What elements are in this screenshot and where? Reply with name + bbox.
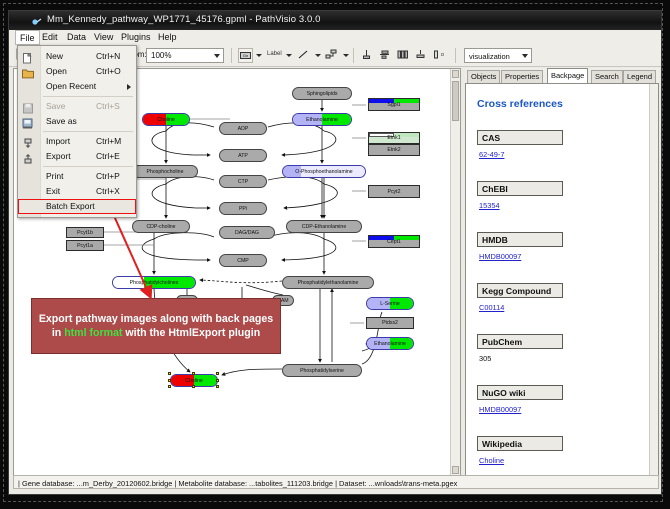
menu-item-open-accel: Ctrl+O xyxy=(96,66,121,76)
menu-item-print-label: Print xyxy=(46,171,63,181)
pathway-node[interactable]: ADP xyxy=(219,122,267,135)
menu-divider-1 xyxy=(43,96,133,97)
pathway-node-label: Phosphatidylethanolamine xyxy=(298,280,359,286)
pathway-node-label: DAG/DAG xyxy=(235,230,259,236)
gene-node-label: Pcyt1b xyxy=(77,230,93,236)
selection-handle[interactable] xyxy=(168,372,171,375)
menu-item-save-accel: Ctrl+S xyxy=(96,101,120,111)
canvas-scroll-thumb[interactable] xyxy=(452,81,459,121)
pathway-node-label: CTP xyxy=(238,179,248,185)
toolbar-separator-5 xyxy=(455,48,456,63)
selection-handle[interactable] xyxy=(168,385,171,388)
scroll-up-button[interactable] xyxy=(452,70,459,78)
menu-item-exit-accel: Ctrl+X xyxy=(96,186,120,196)
title-bar: Mm_Kennedy_pathway_WP1771_45176.gpml - P… xyxy=(9,11,661,31)
save-as-icon xyxy=(22,116,34,127)
menu-edit[interactable]: Edit xyxy=(38,31,62,44)
toolbar-separator-4 xyxy=(353,48,354,63)
menu-bar: File Edit Data View Plugins Help xyxy=(9,30,661,46)
pathway-node[interactable]: O-Phosphoethanolamine xyxy=(282,165,366,178)
menu-item-batch-export[interactable]: Batch Export xyxy=(18,199,136,214)
svg-text:Gn: Gn xyxy=(243,53,248,58)
pathway-node[interactable]: Choline xyxy=(142,113,190,126)
xref-database-label: Kegg Compound xyxy=(477,283,563,298)
screenshot-frame: Mm_Kennedy_pathway_WP1771_45176.gpml - P… xyxy=(0,0,670,509)
window-title: Mm_Kennedy_pathway_WP1771_45176.gpml - P… xyxy=(47,14,321,25)
submenu-arrow-icon xyxy=(127,84,131,90)
pathway-node[interactable]: CMP xyxy=(219,254,267,267)
pathway-node-label: O-Phosphoethanolamine xyxy=(295,169,352,175)
pathway-node-label: Phosphocholine xyxy=(147,169,184,175)
new-file-icon xyxy=(22,51,34,62)
pathway-node[interactable]: CTP xyxy=(219,175,267,188)
gene-node-label: Etnk1 xyxy=(387,135,400,141)
backpage-panel: Cross references CAS62-49-7ChEBI15354HMD… xyxy=(465,83,659,476)
menu-item-batch-export-label: Batch Export xyxy=(46,201,95,211)
gene-node-label: Cept1 xyxy=(387,239,401,245)
line-button[interactable] xyxy=(297,48,312,63)
pathway-node[interactable]: Ethanolamine xyxy=(292,113,352,126)
pathway-node-label: Phosphatidylcholines xyxy=(130,280,179,286)
stack-button[interactable] xyxy=(414,48,429,63)
xref-database-label: PubChem xyxy=(477,334,563,349)
pathway-node[interactable]: CDP-choline xyxy=(132,220,190,233)
status-bar-text: | Gene database: ...m_Derby_20120602.bri… xyxy=(18,479,457,488)
pathway-node[interactable]: Sphingolipids xyxy=(292,87,352,100)
pathway-node[interactable]: CDP-Ethanolamine xyxy=(286,220,362,233)
pathway-node-label: Choline xyxy=(157,117,175,123)
pathway-node-label: ADP xyxy=(238,126,249,132)
selection-handle[interactable] xyxy=(216,372,219,375)
menu-item-open-label: Open xyxy=(46,66,67,76)
gene-node-label: Pcyt2 xyxy=(388,189,401,195)
selection-handle[interactable] xyxy=(192,372,195,375)
align-left-button[interactable] xyxy=(378,48,393,63)
open-folder-icon xyxy=(22,66,34,77)
selection-handle[interactable] xyxy=(216,385,219,388)
pathway-node[interactable]: Phosphocholine xyxy=(132,165,198,178)
xref-database-label: Wikipedia xyxy=(477,436,563,451)
annotation-callout-text: Export pathway images along with back pa… xyxy=(38,312,274,341)
xref-link[interactable]: C00114 xyxy=(479,303,504,312)
export-icon xyxy=(22,151,34,162)
xref-database-label: ChEBI xyxy=(477,181,563,196)
selection-handle[interactable] xyxy=(192,385,195,388)
pathvisio-app-icon xyxy=(31,15,42,26)
menu-item-open-recent[interactable]: Open Recent xyxy=(18,79,136,94)
line-dropdown-arrow[interactable] xyxy=(315,54,321,57)
chevron-down-icon xyxy=(522,54,528,58)
file-menu-popup[interactable]: New Ctrl+N Open Ctrl+O Open Recent xyxy=(17,45,137,218)
application-window: Mm_Kennedy_pathway_WP1771_45176.gpml - P… xyxy=(8,10,662,495)
zoom-combobox[interactable]: 100% xyxy=(146,48,224,63)
xref-link[interactable]: Choline xyxy=(479,456,504,465)
toolbar-separator-3 xyxy=(231,48,232,63)
save-disk-icon xyxy=(22,101,34,112)
gene-node-label: Pcyt1a xyxy=(77,243,93,249)
gene-node[interactable]: Etnk2 xyxy=(368,144,420,156)
xref-database-label: NuGO wiki xyxy=(477,385,563,400)
menu-file[interactable]: File xyxy=(15,30,40,45)
menu-item-exit[interactable]: Exit Ctrl+X xyxy=(18,184,136,199)
anchor-button[interactable] xyxy=(325,48,340,63)
pathway-node[interactable]: DAG/DAG xyxy=(219,226,275,239)
menu-item-save: Save Ctrl+S xyxy=(18,99,136,114)
gene-node[interactable]: Cept1 xyxy=(368,235,420,248)
tab-search[interactable]: Search xyxy=(591,70,623,83)
gene-node[interactable]: Ptdss2 xyxy=(366,317,414,329)
group-button[interactable]: D xyxy=(432,48,447,63)
data-node-dropdown-arrow[interactable] xyxy=(256,54,262,57)
pathway-node-label: L-Serine xyxy=(380,301,400,307)
visualization-value: visualization xyxy=(469,52,510,61)
menu-item-save-as-label: Save as xyxy=(46,116,77,126)
menu-item-save-label: Save xyxy=(46,101,65,111)
label-dropdown-arrow[interactable] xyxy=(286,54,292,57)
pathway-node[interactable]: L-Serine xyxy=(366,297,414,310)
menu-divider-3 xyxy=(43,166,133,167)
side-panel-tabs: Objects Properties Backpage Search Legen… xyxy=(465,68,659,83)
pathway-node[interactable]: Phosphatidylcholines xyxy=(112,276,196,289)
pathway-node[interactable]: Ethanolamine xyxy=(366,337,414,350)
tab-objects[interactable]: Objects xyxy=(467,70,500,83)
menu-item-import-label: Import xyxy=(46,136,70,146)
pathway-node-label: ATP xyxy=(238,153,248,159)
import-icon xyxy=(22,136,34,147)
menu-item-export-accel: Ctrl+E xyxy=(96,151,120,161)
xref-link[interactable]: 62-49-7 xyxy=(479,150,504,159)
tab-backpage[interactable]: Backpage xyxy=(547,68,588,83)
menu-item-print-accel: Ctrl+P xyxy=(96,171,120,181)
menu-item-open[interactable]: Open Ctrl+O xyxy=(18,64,136,79)
side-panel: Objects Properties Backpage Search Legen… xyxy=(465,68,659,476)
callout-highlight: html format xyxy=(64,327,122,339)
gene-node[interactable]: Etnk1 xyxy=(368,132,420,144)
menu-item-export[interactable]: Export Ctrl+E xyxy=(18,149,136,164)
pathway-node-label: Sphingolipids xyxy=(307,91,338,97)
menu-item-new-accel: Ctrl+N xyxy=(96,51,120,61)
label-button-text[interactable]: Label xyxy=(267,51,282,57)
chevron-down-icon xyxy=(214,54,220,58)
visualization-combobox[interactable]: visualization xyxy=(464,48,532,63)
selection-handle[interactable] xyxy=(216,379,219,382)
pathway-node-label: Ethanolamine xyxy=(374,341,406,347)
zoom-value: 100% xyxy=(151,51,171,60)
xref-link[interactable]: HMDB00097 xyxy=(479,252,521,261)
pathway-node[interactable]: Phosphatidylethanolamine xyxy=(282,276,374,289)
menu-item-import[interactable]: Import Ctrl+M xyxy=(18,134,136,149)
annotation-callout: Export pathway images along with back pa… xyxy=(31,298,281,354)
pathway-node-label: CDP-choline xyxy=(146,224,175,230)
pathway-node-label: Ethanolamine xyxy=(306,117,338,123)
menu-help[interactable]: Help xyxy=(154,31,181,44)
gene-node[interactable]: Sgpl1 xyxy=(368,98,420,111)
cross-references-heading: Cross references xyxy=(477,98,563,110)
menu-item-open-recent-label: Open Recent xyxy=(46,81,96,91)
svg-text:D: D xyxy=(441,52,445,57)
xref-value: 305 xyxy=(479,354,491,363)
xref-link[interactable]: HMDB00097 xyxy=(479,405,521,414)
menu-item-exit-label: Exit xyxy=(46,186,60,196)
gene-node-label: Etnk2 xyxy=(387,147,400,153)
gene-node[interactable]: Pcyt1b xyxy=(66,227,104,238)
menu-view[interactable]: View xyxy=(90,31,117,44)
tab-legend[interactable]: Legend xyxy=(623,70,656,83)
menu-plugins[interactable]: Plugins xyxy=(117,31,155,44)
xref-database-label: HMDB xyxy=(477,232,563,247)
menu-item-new[interactable]: New Ctrl+N xyxy=(18,49,136,64)
data-node-button[interactable]: Gn xyxy=(238,48,253,63)
xref-database-label: CAS xyxy=(477,130,563,145)
menu-item-print[interactable]: Print Ctrl+P xyxy=(18,169,136,184)
gene-node-label: Ptdss2 xyxy=(382,320,398,326)
gene-node[interactable]: Pcyt2 xyxy=(368,185,420,198)
pathway-node-label: PPi xyxy=(239,206,247,212)
align-top-button[interactable] xyxy=(360,48,375,63)
xref-link[interactable]: 15354 xyxy=(479,201,500,210)
tab-properties[interactable]: Properties xyxy=(501,70,543,83)
pathway-node-label: CDP-Ethanolamine xyxy=(302,224,346,230)
menu-item-new-label: New xyxy=(46,51,63,61)
gene-node[interactable]: Pcyt1a xyxy=(66,240,104,251)
menu-item-import-accel: Ctrl+M xyxy=(96,136,121,146)
menu-item-export-label: Export xyxy=(46,151,71,161)
callout-part2: with the HtmlExport plugin xyxy=(122,327,260,339)
menu-item-save-as[interactable]: Save as xyxy=(18,114,136,129)
selection-handle[interactable] xyxy=(168,379,171,382)
pathway-node-label: Choline xyxy=(185,378,203,384)
menu-data[interactable]: Data xyxy=(63,31,90,44)
scroll-down-button[interactable] xyxy=(452,466,459,474)
pathway-node[interactable]: ATP xyxy=(219,149,267,162)
status-bar: | Gene database: ...m_Derby_20120602.bri… xyxy=(13,475,659,489)
distribute-button[interactable] xyxy=(396,48,411,63)
menu-divider-2 xyxy=(43,131,133,132)
gene-node-label: Sgpl1 xyxy=(387,102,400,108)
anchor-dropdown-arrow[interactable] xyxy=(343,54,349,57)
pathway-node-label: CMP xyxy=(237,258,249,264)
panel-scrollbar[interactable] xyxy=(649,84,658,475)
pathway-node[interactable]: PPi xyxy=(219,202,267,215)
pathway-node-label: Phosphatidylserine xyxy=(300,368,344,374)
canvas-scrollbar[interactable] xyxy=(450,69,460,475)
pathway-node[interactable]: Phosphatidylserine xyxy=(282,364,362,377)
